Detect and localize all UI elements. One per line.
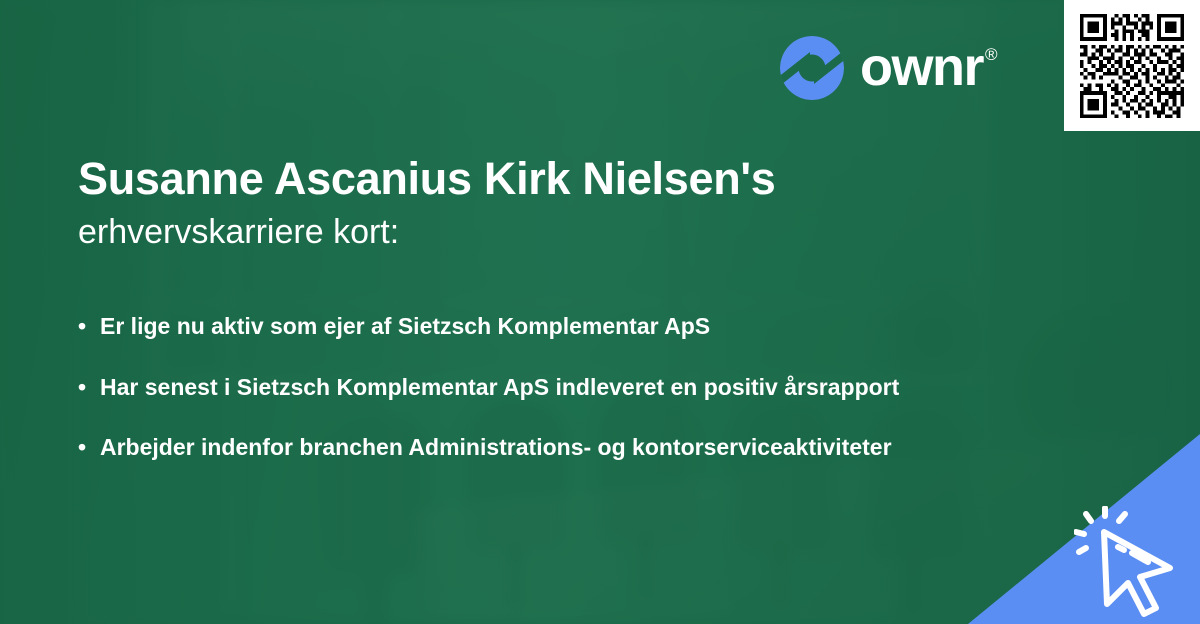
registered-trademark-icon: ® xyxy=(985,46,998,63)
list-item: • Arbejder indenfor branchen Administrat… xyxy=(78,431,1038,464)
ownr-brand-lockup: ownr ® xyxy=(780,36,998,100)
list-item-label: Har senest i Sietzsch Komplementar ApS i… xyxy=(100,371,1038,404)
list-item-label: Arbejder indenfor branchen Administratio… xyxy=(100,431,1038,464)
list-item: • Er lige nu aktiv som ejer af Sietzsch … xyxy=(78,310,1038,343)
list-item: • Har senest i Sietzsch Komplementar ApS… xyxy=(78,371,1038,404)
career-facts-list: • Er lige nu aktiv som ejer af Sietzsch … xyxy=(78,310,1038,492)
ownr-wordmark: ownr ® xyxy=(860,42,998,93)
click-cursor-icon xyxy=(1074,506,1194,624)
qr-code-icon[interactable] xyxy=(1076,10,1188,122)
page-title: Susanne Ascanius Kirk Nielsen's erhvervs… xyxy=(78,152,1038,254)
wordmark-text: ownr xyxy=(860,42,983,93)
bullet-marker-icon: • xyxy=(78,371,100,404)
bullet-marker-icon: • xyxy=(78,310,100,343)
qr-code-panel[interactable] xyxy=(1064,0,1200,131)
bullet-marker-icon: • xyxy=(78,431,100,464)
title-line-2: erhvervskarriere kort: xyxy=(78,211,1038,254)
title-line-1: Susanne Ascanius Kirk Nielsen's xyxy=(78,152,1038,205)
business-career-card: ownr ® xyxy=(0,0,1200,624)
list-item-label: Er lige nu aktiv som ejer af Sietzsch Ko… xyxy=(100,310,1038,343)
ownr-circle-logo-icon xyxy=(780,36,844,100)
